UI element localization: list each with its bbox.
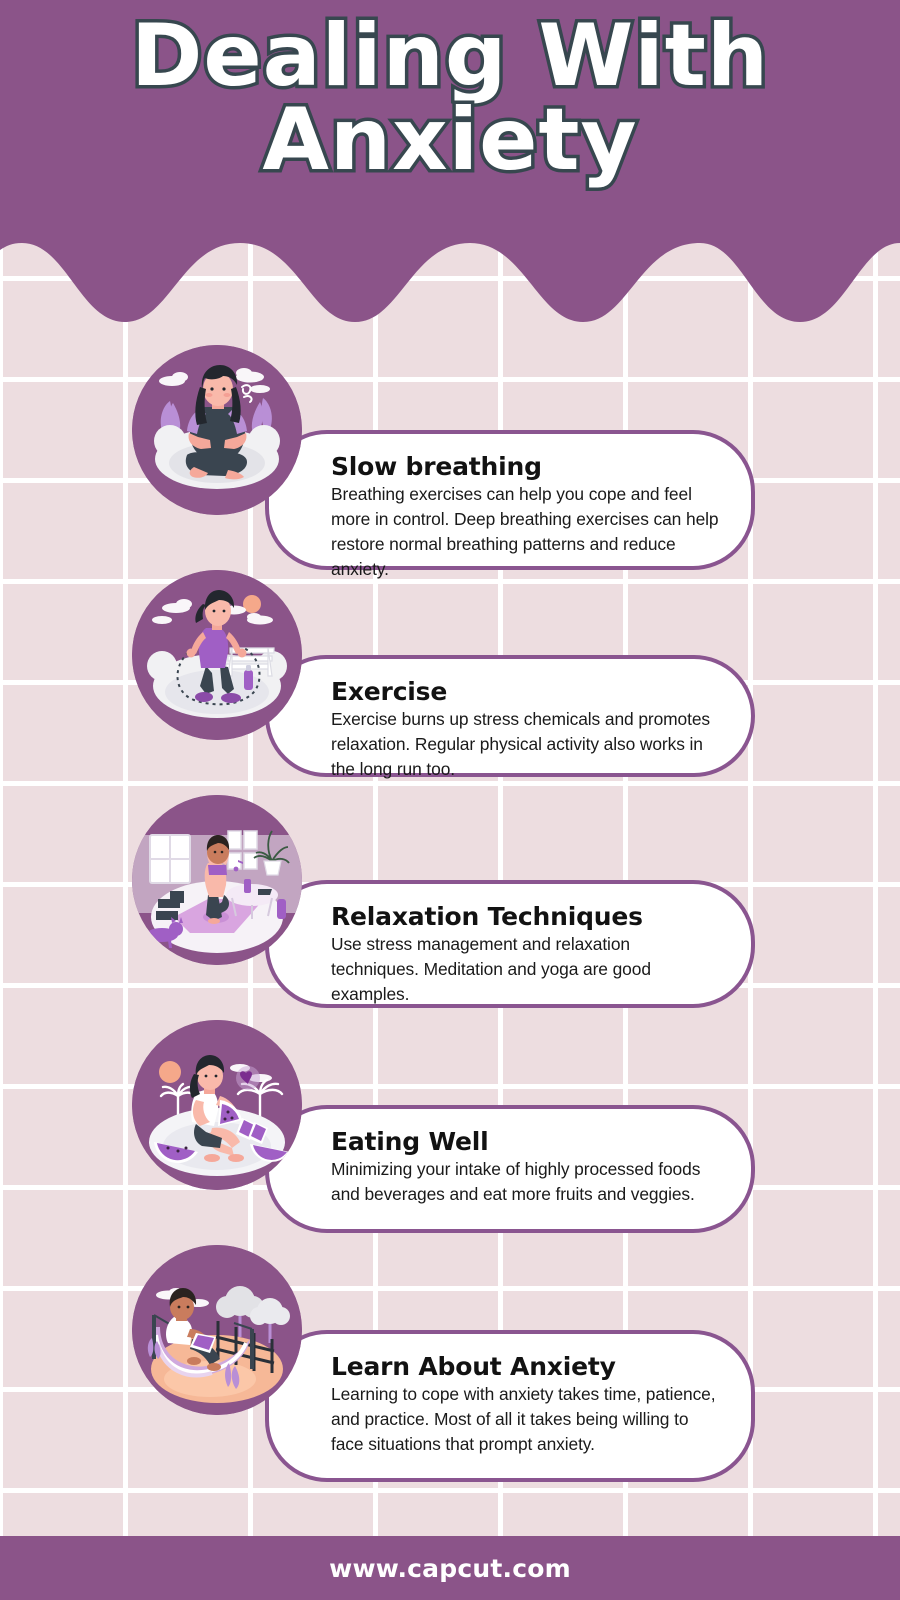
tip-body-4: Minimizing your intake of highly process… — [331, 1157, 721, 1207]
woman-reading-hammock-icon — [132, 1245, 302, 1415]
tip-card-3[interactable]: Relaxation Techniques Use stress managem… — [265, 880, 755, 1008]
tip-title-3: Relaxation Techniques — [331, 902, 721, 931]
tip-body-3: Use stress management and relaxation tec… — [331, 932, 721, 1007]
woman-eating-watermelon-icon — [132, 1020, 302, 1190]
page-title: Dealing With Anxiety — [0, 14, 900, 183]
tip-card-4[interactable]: Eating Well Minimizing your intake of hi… — [265, 1105, 755, 1233]
tip-title-1: Slow breathing — [331, 452, 721, 481]
woman-jumping-rope-icon — [132, 570, 302, 740]
title-line-2: Anxiety — [0, 98, 900, 182]
tip-card-2[interactable]: Exercise Exercise burns up stress chemic… — [265, 655, 755, 777]
tip-title-4: Eating Well — [331, 1127, 721, 1156]
footer-bar: www.capcut.com — [0, 1536, 900, 1600]
tips-list: Slow breathing Breathing exercises can h… — [0, 0, 900, 1600]
tip-body-1: Breathing exercises can help you cope an… — [331, 482, 721, 582]
tip-title-2: Exercise — [331, 677, 721, 706]
tip-title-5: Learn About Anxiety — [331, 1352, 721, 1381]
footer-url[interactable]: www.capcut.com — [329, 1554, 571, 1583]
woman-yoga-tree-pose-icon — [132, 795, 302, 965]
tip-body-5: Learning to cope with anxiety takes time… — [331, 1382, 721, 1457]
woman-meditating-icon — [132, 345, 302, 515]
tip-card-1[interactable]: Slow breathing Breathing exercises can h… — [265, 430, 755, 570]
infographic-poster: Dealing With Anxiety — [0, 0, 900, 1600]
tip-body-2: Exercise burns up stress chemicals and p… — [331, 707, 721, 782]
tip-card-5[interactable]: Learn About Anxiety Learning to cope wit… — [265, 1330, 755, 1482]
